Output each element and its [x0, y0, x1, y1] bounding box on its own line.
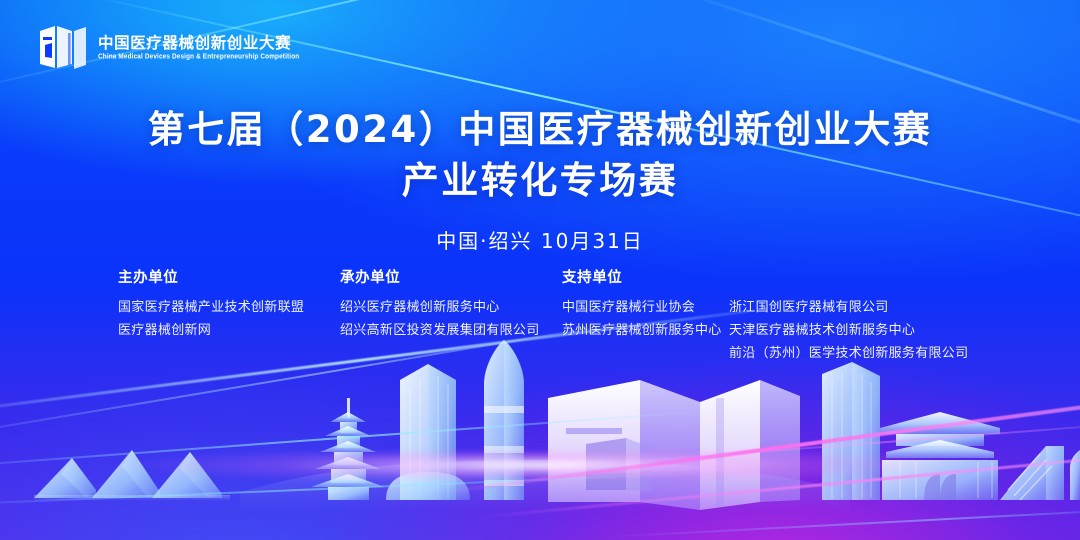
open-book-door-logo-icon	[38, 24, 88, 70]
organizer-item: 中国医疗器械行业协会	[562, 296, 729, 319]
organizer-item: 浙江国创医疗器械有限公司	[729, 296, 989, 319]
organizer-item: 绍兴医疗器械创新服务中心	[340, 296, 562, 319]
organizer-heading-host: 主办单位	[118, 266, 340, 287]
landmark-competition-logo-monument	[548, 380, 800, 510]
organizer-group-host: 主办单位 国家医疗器械产业技术创新联盟 医疗器械创新网	[118, 266, 340, 342]
event-location-date: 中国·绍兴 10月31日	[0, 225, 1080, 254]
brand-logo: 中国医疗器械创新创业大赛 China Medical Devices Desig…	[38, 24, 299, 70]
poster-canvas: 中国医疗器械创新创业大赛 China Medical Devices Desig…	[0, 0, 1080, 540]
landmark-glass-skyscraper	[386, 364, 470, 500]
horizon-glow	[0, 452, 1080, 478]
organizers-section: 主办单位 国家医疗器械产业技术创新联盟 医疗器械创新网 承办单位 绍兴医疗器械创…	[118, 266, 989, 365]
support-column-b: 浙江国创医疗器械有限公司 天津医疗器械技术创新服务中心 前沿（苏州）医学技术创新…	[729, 296, 989, 365]
landmark-pagoda-tower	[311, 398, 385, 500]
organizer-heading-organizer: 承办单位	[340, 266, 562, 287]
brand-name-en: China Medical Devices Design & Entrepren…	[98, 53, 299, 62]
organizer-item: 医疗器械创新网	[118, 319, 340, 342]
organizer-group-organizer: 承办单位 绍兴医疗器械创新服务中心 绍兴高新区投资发展集团有限公司	[340, 266, 562, 342]
brand-text: 中国医疗器械创新创业大赛 China Medical Devices Desig…	[98, 33, 299, 61]
page-title-line2: 产业转化专场赛	[0, 157, 1080, 204]
organizer-item: 绍兴高新区投资发展集团有限公司	[340, 319, 562, 342]
organizer-item: 前沿（苏州）医学技术创新服务有限公司	[729, 342, 989, 365]
organizer-heading-support: 支持单位	[562, 266, 989, 287]
organizer-item: 天津医疗器械技术创新服务中心	[729, 319, 989, 342]
support-column-a: 中国医疗器械行业协会 苏州医疗器械创新服务中心	[562, 296, 729, 342]
organizer-item: 苏州医疗器械创新服务中心	[562, 319, 729, 342]
organizer-group-support: 支持单位 中国医疗器械行业协会 苏州医疗器械创新服务中心 浙江国创医疗器械有限公…	[562, 266, 989, 365]
brand-name-cn: 中国医疗器械创新创业大赛	[98, 35, 299, 52]
hero-title-block: 第七届（2024）中国医疗器械创新创业大赛 产业转化专场赛 中国·绍兴 10月3…	[0, 106, 1080, 254]
organizer-item: 国家医疗器械产业技术创新联盟	[118, 296, 340, 319]
landmark-twin-glass-tower	[822, 362, 880, 500]
support-columns: 中国医疗器械行业协会 苏州医疗器械创新服务中心 浙江国创医疗器械有限公司 天津医…	[562, 296, 989, 365]
page-title-line1: 第七届（2024）中国医疗器械创新创业大赛	[0, 106, 1080, 153]
city-skyline-illustration	[0, 340, 1080, 540]
